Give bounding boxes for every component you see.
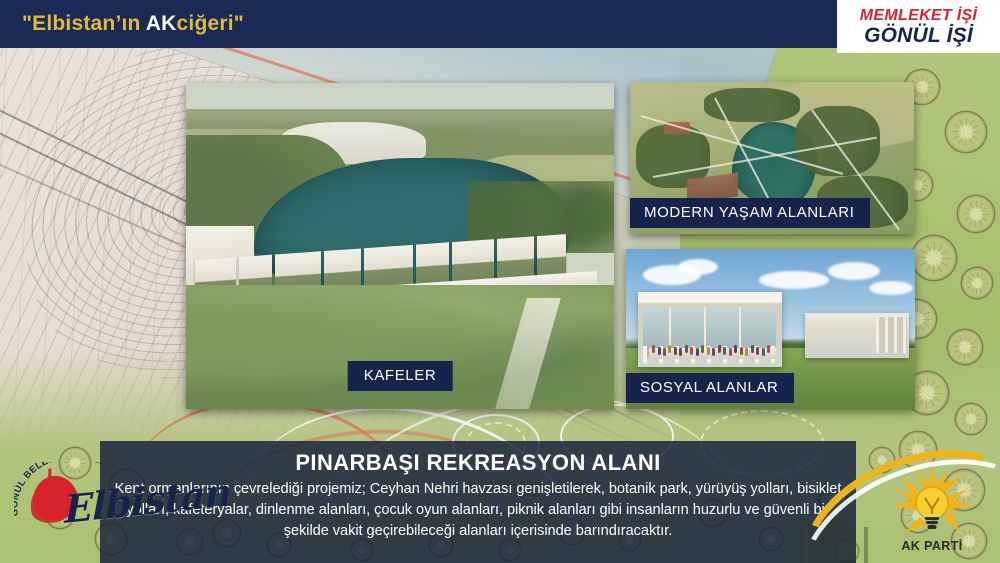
presentation-slide: "Elbistan’ın AKciğeri" MEMLEKET İŞİ GÖNÜ… [0,0,1000,563]
elbistan-municipality-logo: GÖNÜL BELEDİYECİLİĞİ Elbistan [10,460,190,542]
page-title: "Elbistan’ın AKciğeri" [22,12,244,36]
render-figure [701,345,704,353]
tree-canopy-icon [946,112,986,152]
render-figure [685,345,688,353]
render-figure [740,347,743,355]
tree-canopy-icon [912,236,956,280]
render-figure [723,347,726,355]
campaign-logo-line1: MEMLEKET İŞİ [860,8,977,24]
render-facade-fins [876,317,907,353]
render-cloud [869,281,913,295]
caption-kafeler: KAFELER [348,361,453,391]
caption-sosyal-alanlar: SOSYAL ALANLAR [626,373,794,403]
render-figure [663,348,666,356]
render-figure [729,348,732,356]
render-figure [674,347,677,355]
render-figure [756,347,759,355]
caption-modern-yasam-alanlari: MODERN YAŞAM ALANLARI [630,198,870,228]
render-figure [696,348,699,356]
render-roofline [638,292,783,302]
render-cloud [828,262,880,280]
render-secondary-building [805,313,909,358]
render-cloud [678,259,718,275]
render-figure [745,348,748,356]
render-figure [734,345,737,353]
render-figure [762,348,765,356]
modern-living-render[interactable]: MODERN YAŞAM ALANLARI [630,82,914,234]
render-figure [707,347,710,355]
ak-parti-label: AK PARTİ [872,539,992,553]
ak-parti-logo: AK PARTİ [872,463,992,559]
page-title-part2: ciğeri" [177,12,244,35]
tree-canopy-icon [958,196,994,232]
page-title-ak: AK [146,12,177,35]
tree-canopy-icon [948,330,982,364]
tree-canopy-icon [956,404,986,434]
page-title-part1: "Elbistan’ın [22,12,146,35]
render-figure [751,345,754,353]
tree-canopy-icon [962,268,992,298]
social-areas-render[interactable]: SOSYAL ALANLAR [626,249,915,409]
render-figure [658,347,661,355]
render-figure [690,347,693,355]
campaign-logo-line2: GÖNÜL İŞİ [864,25,973,46]
render-figure [718,345,721,353]
render-figure [767,345,770,353]
render-planting-mass [795,106,880,176]
render-figure [652,345,655,353]
campaign-logo: MEMLEKET İŞİ GÖNÜL İŞİ [837,0,1000,53]
main-lake-render[interactable]: KAFELER [186,83,614,409]
